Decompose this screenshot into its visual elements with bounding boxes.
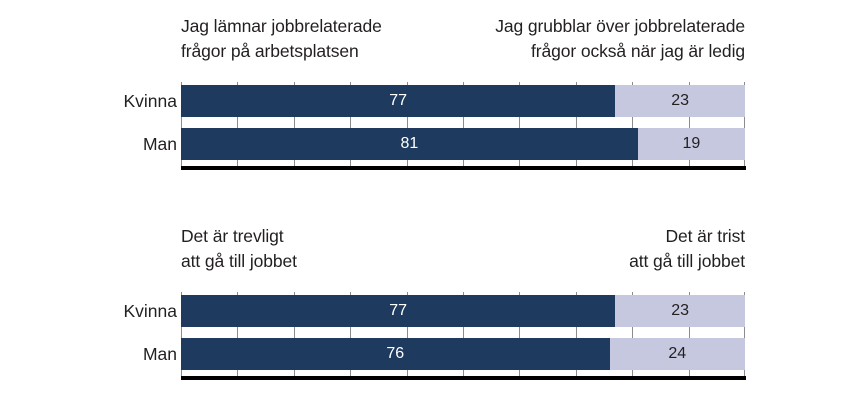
table-row: 77 23: [181, 85, 745, 117]
plot-area: 77 23 76 24: [181, 292, 745, 376]
bar-segment-primary: 81: [181, 128, 638, 160]
category-label-kvinna: Kvinna: [0, 295, 177, 327]
chart-panel-work-enjoyment: Det är trevligt att gå till jobbet Det ä…: [0, 210, 856, 419]
caption-left: Det är trevligt att gå till jobbet: [181, 224, 297, 274]
axis-baseline: [181, 376, 746, 380]
category-axis-labels: Kvinna Man: [0, 292, 177, 376]
category-axis-labels: Kvinna Man: [0, 82, 177, 166]
bar-rows: 77 23 81 19: [181, 82, 745, 166]
bar-segment-secondary: 23: [615, 295, 745, 327]
table-row: 77 23: [181, 295, 745, 327]
chart-captions: Det är trevligt att gå till jobbet Det ä…: [181, 224, 745, 286]
caption-right: Det är trist att gå till jobbet: [629, 224, 745, 274]
bar-segment-primary: 76: [181, 338, 610, 370]
axis-baseline: [181, 166, 746, 170]
bar-segment-primary: 77: [181, 295, 615, 327]
category-label-kvinna: Kvinna: [0, 85, 177, 117]
bar-segment-secondary: 23: [615, 85, 745, 117]
chart-captions: Jag lämnar jobbrelaterade frågor på arbe…: [181, 14, 745, 76]
category-label-man: Man: [0, 338, 177, 370]
category-label-man: Man: [0, 128, 177, 160]
bar-segment-secondary: 19: [638, 128, 745, 160]
caption-right: Jag grubblar över jobbrelaterade frågor …: [495, 14, 745, 64]
chart-panel-work-thoughts: Jag lämnar jobbrelaterade frågor på arbe…: [0, 0, 856, 210]
caption-left: Jag lämnar jobbrelaterade frågor på arbe…: [181, 14, 382, 64]
bar-segment-primary: 77: [181, 85, 615, 117]
table-row: 76 24: [181, 338, 745, 370]
plot-area: 77 23 81 19: [181, 82, 745, 166]
table-row: 81 19: [181, 128, 745, 160]
bar-rows: 77 23 76 24: [181, 292, 745, 376]
bar-segment-secondary: 24: [610, 338, 745, 370]
